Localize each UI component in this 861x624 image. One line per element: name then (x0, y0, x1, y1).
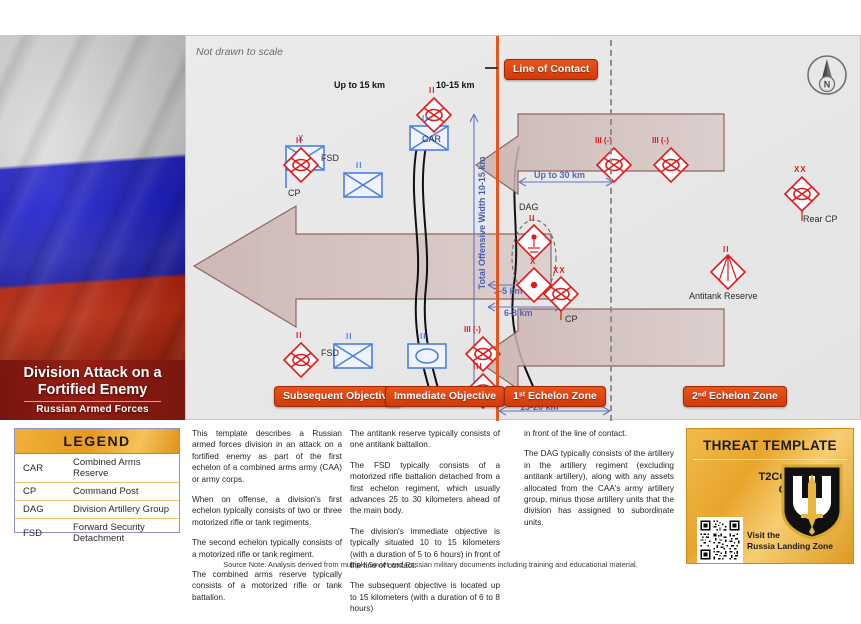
legend-row: DAG Division Artillery Group (15, 501, 179, 519)
legend-value: Combined Arms Reserve (65, 454, 179, 483)
chip-subsequent-objective[interactable]: Subsequent Objective (274, 386, 402, 407)
paragraph: The FSD typically consists of a motorize… (350, 460, 500, 517)
legend-key: CP (15, 483, 65, 501)
paragraph: The combined arms reserve typically cons… (192, 569, 342, 603)
red-unit-antitank-reserve (711, 255, 745, 289)
blue-unit-armor-1 (408, 344, 446, 368)
visit-callout[interactable]: Visit the Russia Landing Zone (747, 530, 833, 551)
chip-immediate-objective[interactable]: Immediate Objective (385, 386, 505, 407)
threat-template-heading: THREAT TEMPLATE (687, 438, 853, 453)
red-unit-fsd-bottom (284, 343, 318, 377)
red-unit-rear-cp (785, 177, 819, 211)
legend-value: Forward Security Detachment (65, 519, 179, 548)
legend-key: CAR (15, 454, 65, 483)
paragraph: When on offense, a division's first eche… (192, 494, 342, 528)
paragraph: The DAG typically consists of the artill… (524, 448, 674, 528)
legend-key: FSD (15, 519, 65, 548)
line-of-contact-line (496, 36, 499, 421)
diagram-area: Division Attack on a Fortified Enemy Rus… (0, 0, 861, 420)
legend-panel: LEGEND CAR Combined Arms Reserve CP Comm… (14, 428, 180, 533)
compass-north-letter: N (824, 80, 831, 90)
offensive-width-dimension: Total Offensive Width 10-15 km (471, 146, 485, 316)
paragraph: The subsequent objective is located up t… (350, 580, 500, 614)
page-subtitle: Russian Armed Forces (10, 404, 175, 415)
paragraph: in front of the line of contact. (524, 428, 674, 439)
blue-unit-batt-2 (410, 126, 448, 150)
tactical-diagram: Not drawn to scale (185, 35, 861, 420)
visit-line1: Visit the (747, 530, 833, 541)
chip-line-of-contact[interactable]: Line of Contact (504, 59, 598, 80)
line-of-contact-leader (485, 67, 498, 69)
legend-heading: LEGEND (15, 429, 179, 454)
title-divider (24, 401, 161, 402)
description-column-1: This template describes a Russian armed … (192, 428, 342, 612)
legend-value: Division Artillery Group (65, 501, 179, 519)
chip-second-echelon-zone[interactable]: 2ⁿᵈ Echelon Zone (683, 386, 787, 407)
legend-row: FSD Forward Security Detachment (15, 519, 179, 548)
title-plate: Division Attack on a Fortified Enemy Rus… (0, 360, 185, 420)
north-arrow-icon: N (806, 54, 848, 96)
legend-row: CAR Combined Arms Reserve (15, 454, 179, 483)
diagram-vector-layer (186, 36, 861, 421)
legend-table: CAR Combined Arms Reserve CP Command Pos… (15, 454, 179, 547)
source-note: Source Note: Analysis derived from multi… (0, 560, 861, 569)
visit-line2: Russia Landing Zone (747, 541, 833, 552)
chip-first-echelon-zone[interactable]: 1ˢᵗ Echelon Zone (504, 386, 606, 407)
unit-crest-icon (779, 462, 845, 540)
offensive-width-label: Total Offensive Width 10-15 km (477, 148, 487, 298)
description-column-3: in front of the line of contact. The DAG… (524, 428, 674, 537)
legend-row: CP Command Post (15, 483, 179, 501)
paragraph: The second echelon typically consists of… (192, 537, 342, 560)
description-column-2: The antitank reserve typically consists … (350, 428, 500, 624)
page-title-line2: Fortified Enemy (10, 382, 175, 399)
legend-key: DAG (15, 501, 65, 519)
blue-unit-batt-3 (334, 344, 372, 368)
page-title-line1: Division Attack on a (10, 365, 175, 382)
legend-value: Command Post (65, 483, 179, 501)
echelon-divider-dashed (610, 40, 612, 421)
threat-template-panel: THREAT TEMPLATE T2COM G-2 (686, 428, 854, 564)
russian-flag-panel: Division Attack on a Fortified Enemy Rus… (0, 35, 185, 420)
qr-code-icon[interactable] (697, 517, 743, 563)
paragraph: The antitank reserve typically consists … (350, 428, 500, 451)
threat-divider (693, 459, 847, 460)
paragraph: This template describes a Russian armed … (192, 428, 342, 485)
blue-unit-batt-1 (344, 173, 382, 197)
